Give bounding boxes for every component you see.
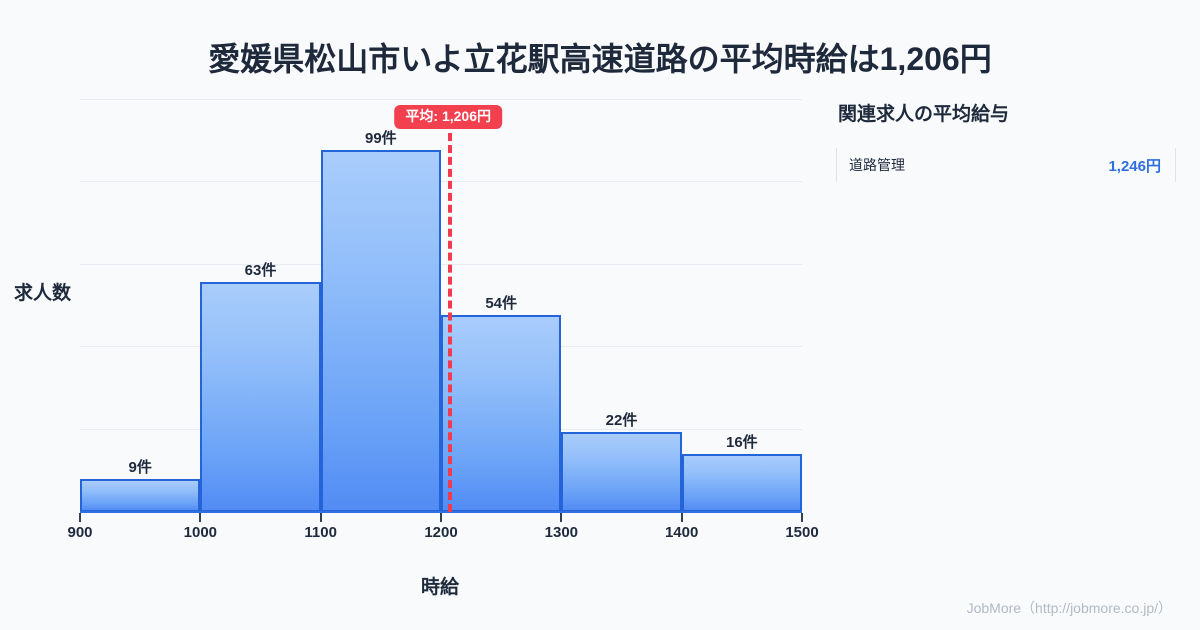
x-axis-tick-label: 1300 xyxy=(545,524,578,541)
x-axis-tick-label: 1000 xyxy=(184,524,217,541)
x-axis-tick xyxy=(801,513,803,522)
related-salary-row-value: 1,246円 xyxy=(1108,155,1161,176)
x-axis-tick xyxy=(199,513,201,522)
x-axis-tick-label: 900 xyxy=(67,524,92,541)
x-axis-tick-label: 1400 xyxy=(665,524,698,541)
x-axis-title: 時給 xyxy=(0,572,880,599)
x-axis-tick xyxy=(560,513,562,522)
histogram-bar xyxy=(321,150,441,512)
watermark: JobMore（http://jobmore.co.jp/） xyxy=(967,598,1172,618)
histogram-bar xyxy=(441,315,561,512)
x-axis-tick xyxy=(681,513,683,522)
page-title: 愛媛県松山市いよ立花駅高速道路の平均時給は1,206円 xyxy=(0,34,1200,80)
histogram-bar xyxy=(561,432,681,512)
y-axis-title: 求人数 xyxy=(14,278,71,305)
related-salary-list: 道路管理1,246円 xyxy=(836,148,1176,182)
bar-value-label: 22件 xyxy=(606,409,638,430)
related-salary-panel: 関連求人の平均給与 道路管理1,246円 xyxy=(836,99,1176,182)
average-line xyxy=(448,133,452,512)
x-axis-tick xyxy=(79,513,81,522)
x-axis-tick xyxy=(320,513,322,522)
histogram-bar xyxy=(200,282,320,512)
related-salary-row-label: 道路管理 xyxy=(849,155,905,175)
histogram-bar xyxy=(80,479,200,512)
bar-value-label: 9件 xyxy=(128,456,151,477)
x-axis-tick-label: 1500 xyxy=(785,524,818,541)
bars-layer: 9件63件99件54件22件16件 xyxy=(80,99,802,512)
bar-value-label: 99件 xyxy=(365,127,397,148)
x-axis-tick xyxy=(440,513,442,522)
bar-value-label: 54件 xyxy=(485,292,517,313)
related-salary-row[interactable]: 道路管理1,246円 xyxy=(836,148,1176,182)
histogram-bar xyxy=(682,454,802,512)
average-badge: 平均: 1,206円 xyxy=(394,105,502,129)
related-salary-heading: 関連求人の平均給与 xyxy=(838,99,1176,126)
bar-value-label: 16件 xyxy=(726,431,758,452)
x-axis-tick-label: 1200 xyxy=(424,524,457,541)
chart-page: 愛媛県松山市いよ立花駅高速道路の平均時給は1,206円 9件63件99件54件2… xyxy=(0,0,1200,630)
x-axis-tick-label: 1100 xyxy=(304,524,337,541)
bar-value-label: 63件 xyxy=(245,259,277,280)
